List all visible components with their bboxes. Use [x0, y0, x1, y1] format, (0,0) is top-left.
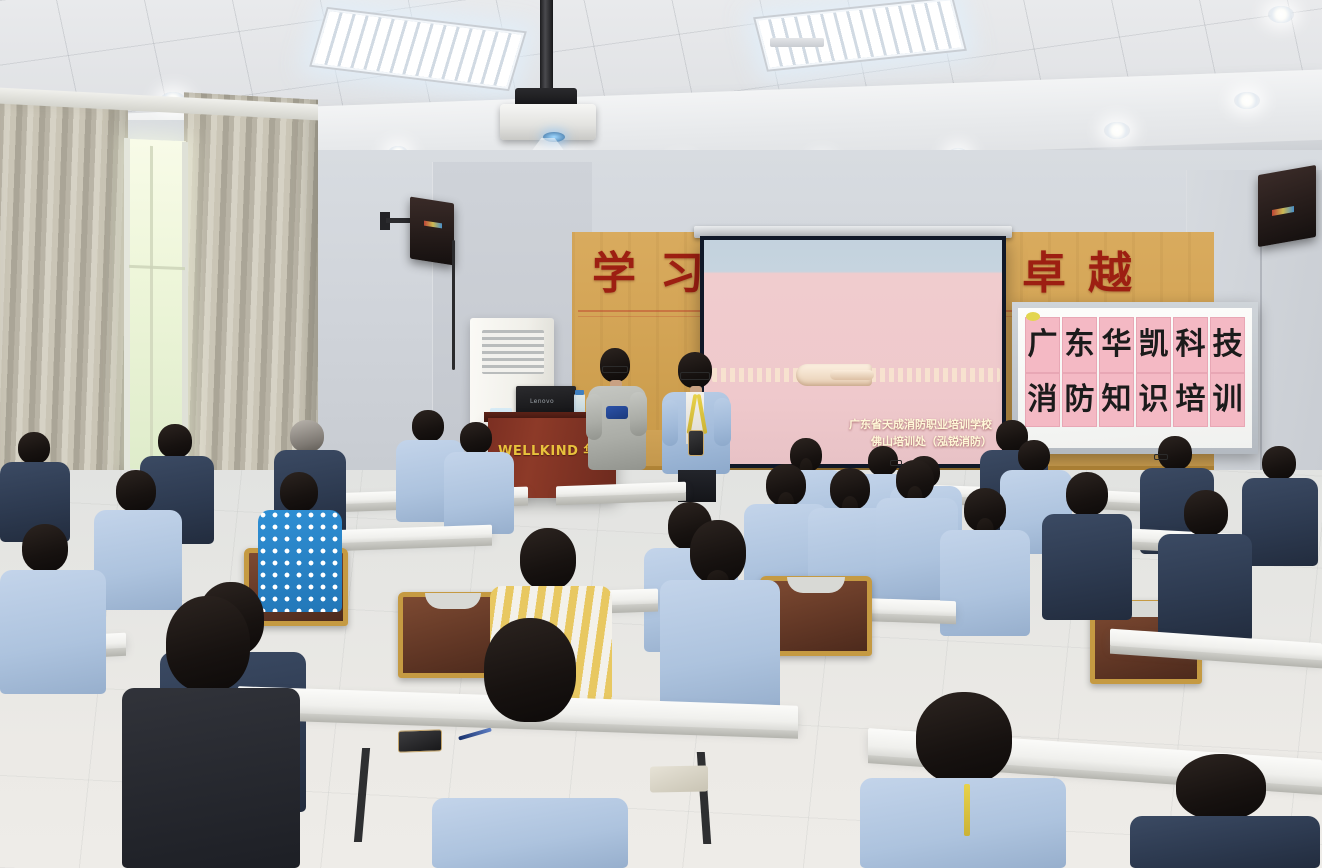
whiteboard-surface: 广 东 华 凯 科 技 消 防 知 识 培 训: [1018, 308, 1252, 448]
whiteboard-banner-row-2: 消 防 知 识 培 训: [1025, 373, 1245, 427]
bottle-cap: [575, 390, 584, 395]
torso: [1042, 514, 1132, 620]
banner-char: 防: [1062, 373, 1097, 427]
audience-member-foreground: [432, 618, 632, 868]
banner-char: 消: [1025, 373, 1060, 427]
downlight-icon: [1234, 92, 1260, 109]
air-conditioner-grille: [482, 330, 544, 374]
banner-char: 华: [1099, 317, 1134, 373]
downlight-icon: [1104, 122, 1130, 139]
banner-char: 技: [1210, 317, 1245, 373]
head: [766, 464, 806, 506]
window: [128, 139, 186, 471]
whiteboard-banner-row-1: 广 东 华 凯 科 技: [1025, 317, 1245, 373]
head: [166, 596, 250, 692]
slide-credit-block: 广东省天成消防职业培训学校 佛山培训处（泓锐消防）: [849, 416, 992, 450]
arm: [714, 398, 731, 446]
head: [916, 692, 1012, 784]
audience-member-foreground: [860, 692, 1070, 868]
torso: [0, 570, 106, 694]
head: [600, 348, 630, 382]
chair-notch: [787, 577, 844, 593]
torso: [122, 688, 300, 868]
slide-credit-line1: 广东省天成消防职业培训学校: [849, 416, 992, 433]
window-frame: [124, 138, 130, 472]
head: [1184, 490, 1228, 536]
arm: [662, 400, 678, 446]
head: [280, 472, 318, 512]
torso: [1130, 816, 1320, 868]
audience-member: [1042, 472, 1134, 620]
window-mullion: [150, 146, 153, 466]
head: [22, 524, 68, 572]
audience-member: [660, 520, 784, 710]
head: [896, 460, 934, 500]
head: [830, 468, 870, 510]
handheld-device: [688, 430, 704, 456]
head: [1066, 472, 1108, 516]
projector-mount-pole: [540, 0, 553, 96]
window-frame: [182, 142, 188, 472]
laptop-brand-label: Lenovo: [530, 398, 554, 405]
banner-char: 广: [1025, 317, 1060, 373]
banner-char: 科: [1173, 317, 1208, 373]
head: [964, 488, 1006, 532]
head: [116, 470, 156, 512]
glasses-icon: [680, 372, 710, 380]
head: [460, 422, 492, 454]
arm: [586, 394, 602, 440]
audience-member: [444, 422, 516, 534]
downlight-icon: [1268, 6, 1294, 23]
head: [1176, 754, 1266, 820]
classroom-photo: 学习 卓越 广东省天成消防职业培训学校 佛山培训处（泓锐消防）: [0, 0, 1322, 868]
audience-member: [0, 524, 110, 694]
banner-char: 东: [1062, 317, 1097, 373]
audience-member-foreground: [1130, 754, 1322, 868]
glasses-icon: [1154, 454, 1168, 460]
torso: [660, 580, 780, 710]
audience-member-foreground: [122, 596, 302, 868]
head: [678, 352, 712, 388]
wall-speaker-right: [1258, 165, 1316, 247]
presenter-male: [586, 348, 648, 488]
zipper-pull-tab: [830, 370, 874, 380]
projection-screen: 广东省天成消防职业培训学校 佛山培训处（泓锐消防）: [700, 236, 1006, 468]
head: [520, 528, 576, 590]
ceiling-vent: [770, 38, 824, 47]
presenter-female: [662, 352, 732, 502]
banner-char: 凯: [1136, 317, 1171, 373]
head: [690, 520, 746, 584]
lanyard: [964, 784, 970, 836]
torso: [1158, 534, 1252, 642]
speaker-cable: [452, 240, 455, 370]
torso: [860, 778, 1066, 868]
head: [158, 424, 192, 458]
handheld-device: [606, 406, 628, 419]
banner-char: 知: [1099, 373, 1134, 427]
notebook: [650, 765, 708, 792]
banner-char: 训: [1210, 373, 1245, 427]
torso: [444, 452, 514, 534]
zipper-teeth-right: [862, 368, 1000, 382]
head: [1158, 436, 1192, 470]
banner-char: 培: [1173, 373, 1208, 427]
chair-notch: [425, 593, 481, 609]
head: [1262, 446, 1296, 480]
torso: [432, 798, 628, 868]
audience-member: [1158, 490, 1254, 642]
head: [18, 432, 50, 464]
head: [290, 420, 324, 452]
glasses-icon: [602, 366, 628, 373]
slide-surface: 广东省天成消防职业培训学校 佛山培训处（泓锐消防）: [704, 240, 1002, 464]
head: [484, 618, 576, 722]
zipper-graphic: [712, 364, 1000, 386]
head: [1018, 440, 1050, 472]
banner-char: 识: [1136, 373, 1171, 427]
magnet-icon: [1026, 312, 1040, 321]
wall-slogan-right: 卓越: [1022, 252, 1154, 296]
head: [412, 410, 444, 442]
wall-speaker-left: [410, 197, 454, 266]
arm: [630, 392, 647, 436]
